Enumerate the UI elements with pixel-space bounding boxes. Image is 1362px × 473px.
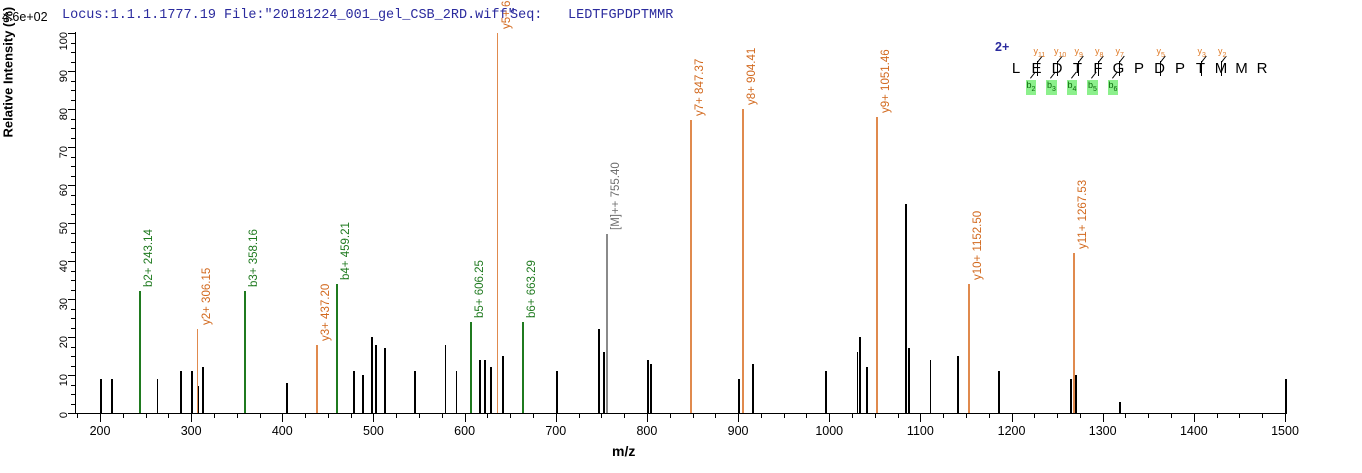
b-ion-label: b3 (1046, 80, 1057, 95)
x-axis-minor-tick (1034, 413, 1035, 418)
y-axis-tick-label: 10 (58, 374, 70, 398)
annotated-peak-y (497, 33, 499, 413)
peak-label: y5+ 635.3 (501, 0, 513, 29)
y-axis-tick-label: 30 (58, 298, 70, 322)
annotated-peak-y (316, 345, 318, 413)
x-axis-minor-tick (123, 413, 124, 418)
x-axis-tick (738, 413, 739, 422)
x-axis-minor-tick (806, 413, 807, 418)
spectrum-viewer: 4.6e+02 Locus:1.1.1.1777.19 File:"201812… (0, 0, 1362, 473)
spectrum-peak (1285, 379, 1287, 413)
x-axis-minor-tick (168, 413, 169, 418)
x-axis-tick (829, 413, 830, 422)
annotated-peak-b (244, 291, 246, 413)
spectrum-peak (866, 367, 868, 413)
peak-label: y11+ 1267.53 (1077, 180, 1089, 249)
y-axis-title: Relative Intensity (%) (1, 114, 16, 138)
peak-label: b2+ 243.14 (143, 230, 155, 288)
sequence-residue: L (1007, 60, 1025, 77)
x-axis-minor-tick (624, 413, 625, 418)
y-ion-label: y11 (1034, 46, 1046, 59)
spectrum-peak (484, 360, 486, 413)
x-axis-minor-tick (875, 413, 876, 418)
x-axis-tick (373, 413, 374, 422)
spectrum-peak (490, 367, 492, 413)
x-axis-minor-tick (533, 413, 534, 418)
annotated-peak-b (336, 284, 338, 413)
x-axis-minor-tick (305, 413, 306, 418)
annotated-peak-y (690, 120, 692, 413)
locus-file-label: Locus:1.1.1.1777.19 File:"20181224_001_g… (62, 8, 516, 23)
peak-label: b3+ 358.16 (248, 230, 260, 288)
x-axis-minor-tick (510, 413, 511, 418)
annotated-peak-y (1073, 253, 1075, 413)
spectrum-peak (859, 337, 861, 413)
spectrum-peak (202, 367, 204, 413)
peak-label: y8+ 904.41 (746, 48, 758, 105)
x-axis-line (75, 413, 1287, 414)
y-axis-tick-label: 90 (58, 70, 70, 94)
y-ion-cleavage-mark (1201, 61, 1202, 76)
x-axis-tick (556, 413, 557, 422)
peak-label: b6+ 663.29 (526, 260, 538, 318)
spectrum-peak (375, 345, 377, 413)
y-ion-cleavage-mark (1098, 61, 1099, 76)
x-axis-minor-tick (601, 413, 602, 418)
annotated-peak-precursor (606, 234, 608, 413)
x-axis-tick (1012, 413, 1013, 422)
spectrum-peak (191, 371, 193, 413)
x-axis-tick-label: 400 (252, 424, 312, 438)
spectrum-peak (445, 345, 447, 413)
spectrum-peak (857, 352, 859, 413)
y-ion-label: y7 (1116, 46, 1124, 59)
precursor-charge-label: 2+ (995, 40, 1009, 54)
x-axis-minor-tick (351, 413, 352, 418)
spectrum-peak (825, 371, 827, 413)
y-ion-label: y9 (1075, 46, 1083, 59)
spectrum-peak (286, 383, 288, 413)
y-ion-cleavage-mark (1037, 61, 1038, 76)
sequence-label: Seq: (510, 8, 542, 23)
x-axis-minor-tick (966, 413, 967, 418)
x-axis-tick-label: 1300 (1073, 424, 1133, 438)
x-axis-minor-tick (943, 413, 944, 418)
x-axis-tick-label: 800 (617, 424, 677, 438)
spectrum-peak (998, 371, 1000, 413)
fragment-coverage-map: 2+ LEDTFGPDPTMMRy11y10y9y8y7y5y3y2b2b3b4… (995, 40, 1280, 102)
x-axis-tick-label: 200 (70, 424, 130, 438)
x-axis-minor-tick (715, 413, 716, 418)
x-axis-tick-label: 1500 (1255, 424, 1315, 438)
x-axis-minor-tick (396, 413, 397, 418)
spectrum-peak (752, 364, 754, 413)
x-axis-tick-label: 1400 (1164, 424, 1224, 438)
y-ion-label: y2 (1218, 46, 1226, 59)
x-axis-minor-tick (1080, 413, 1081, 418)
spectrum-peak (598, 329, 600, 413)
spectrum-peak (556, 371, 558, 413)
y-axis-tick-label: 60 (58, 184, 70, 208)
spectrum-peak (502, 356, 504, 413)
sequence-residue: P (1130, 60, 1148, 77)
x-axis-minor-tick (1148, 413, 1149, 418)
spectrum-peak (353, 371, 355, 413)
peak-label: y7+ 847.37 (694, 59, 706, 116)
y-ion-label: y3 (1198, 46, 1206, 59)
sequence-residue: M (1233, 60, 1251, 77)
y-ion-label: y10 (1054, 46, 1066, 59)
x-axis-minor-tick (1057, 413, 1058, 418)
x-axis-tick-label: 1200 (982, 424, 1042, 438)
x-axis-tick-label: 900 (708, 424, 768, 438)
annotated-peak-y (742, 109, 744, 413)
b-ion-label: b6 (1108, 80, 1119, 95)
y-axis-tick-label: 100 (58, 32, 70, 56)
peak-label: y10+ 1152.50 (972, 211, 984, 280)
x-axis-minor-tick (260, 413, 261, 418)
y-ion-cleavage-mark (1057, 61, 1058, 76)
annotated-peak-y (968, 284, 970, 413)
x-axis-minor-tick (328, 413, 329, 418)
x-axis-tick (1285, 413, 1286, 422)
x-axis-minor-tick (442, 413, 443, 418)
b-ion-label: b4 (1067, 80, 1078, 95)
x-axis-minor-tick (579, 413, 580, 418)
spectrum-peak (647, 360, 649, 413)
peak-label: y9+ 1051.46 (880, 49, 892, 113)
spectrum-peak (957, 356, 959, 413)
x-axis-minor-tick (1217, 413, 1218, 418)
b-ion-label: b2 (1026, 80, 1037, 95)
x-axis-title: m/z (612, 443, 635, 459)
peptide-sequence-text: LEDTFGPDPTMMR (568, 8, 673, 23)
spectrum-peak (384, 348, 386, 413)
spectrum-peak (371, 337, 373, 413)
spectrum-peak (414, 371, 416, 413)
x-axis-minor-tick (1239, 413, 1240, 418)
spectrum-peak (479, 360, 481, 413)
x-axis-tick (282, 413, 283, 422)
spectrum-peak (1119, 402, 1121, 413)
peak-label: y2+ 306.15 (201, 268, 213, 325)
x-axis-minor-tick (487, 413, 488, 418)
spectrum-peak (456, 371, 458, 413)
x-axis-minor-tick (214, 413, 215, 418)
annotated-peak-y (876, 117, 878, 413)
x-axis-tick-label: 300 (161, 424, 221, 438)
peak-label: b4+ 459.21 (340, 222, 352, 280)
y-axis-tick-label: 80 (58, 108, 70, 132)
spectrum-peak (650, 364, 652, 413)
spectrum-peak (100, 379, 102, 413)
b-ion-label: b5 (1087, 80, 1098, 95)
peak-label: y3+ 437.20 (320, 283, 332, 340)
y-ion-label: y5 (1157, 46, 1165, 59)
x-axis-tick (647, 413, 648, 422)
spectrum-peak (603, 352, 605, 413)
y-ion-cleavage-mark (1119, 61, 1120, 76)
spectrum-peak (930, 360, 932, 413)
x-axis-tick-label: 1100 (890, 424, 950, 438)
x-axis-minor-tick (989, 413, 990, 418)
spectrum-peak (362, 375, 364, 413)
spectrum-peak (908, 348, 910, 413)
sequence-residue: P (1171, 60, 1189, 77)
x-axis-tick-label: 700 (526, 424, 586, 438)
peak-label: b5+ 606.25 (474, 260, 486, 318)
x-axis-minor-tick (784, 413, 785, 418)
x-axis-tick-label: 600 (435, 424, 495, 438)
x-axis-minor-tick (237, 413, 238, 418)
annotated-peak-b (470, 322, 472, 413)
y-ion-cleavage-mark (1160, 61, 1161, 76)
x-axis-tick-label: 1000 (799, 424, 859, 438)
y-ion-cleavage-mark (1078, 61, 1079, 76)
x-axis-tick (465, 413, 466, 422)
annotated-peak-b (522, 322, 524, 413)
y-axis-tick-label: 0 (58, 412, 70, 436)
x-axis-minor-tick (146, 413, 147, 418)
annotated-peak-b (139, 291, 141, 413)
x-axis-tick (191, 413, 192, 422)
y-ion-label: y8 (1095, 46, 1103, 59)
x-axis-minor-tick (693, 413, 694, 418)
y-axis-tick-label: 50 (58, 222, 70, 246)
x-axis-minor-tick (1262, 413, 1263, 418)
x-axis-minor-tick (852, 413, 853, 418)
spectrum-peak (180, 371, 182, 413)
x-axis-tick (1103, 413, 1104, 422)
y-axis-tick-label: 70 (58, 146, 70, 170)
spectrum-peak (111, 379, 113, 413)
x-axis-minor-tick (1125, 413, 1126, 418)
x-axis-minor-tick (419, 413, 420, 418)
x-axis-minor-tick (670, 413, 671, 418)
spectrum-peak (1075, 375, 1077, 413)
x-axis-minor-tick (77, 413, 78, 418)
spectrum-peak (905, 204, 907, 413)
x-axis-minor-tick (761, 413, 762, 418)
spectrum-peak (1070, 379, 1072, 413)
peak-label: [M]++ 755.40 (610, 163, 622, 231)
x-axis-minor-tick (898, 413, 899, 418)
x-axis-tick (1194, 413, 1195, 422)
spectrum-peak (157, 379, 159, 413)
y-ion-cleavage-mark (1221, 61, 1222, 76)
y-axis-tick-label: 40 (58, 260, 70, 284)
sequence-residue: R (1253, 60, 1271, 77)
annotated-peak-y (197, 329, 199, 413)
x-axis-tick (920, 413, 921, 422)
x-axis-tick-label: 500 (343, 424, 403, 438)
x-axis-minor-tick (1171, 413, 1172, 418)
y-axis-tick-label: 20 (58, 336, 70, 360)
x-axis-tick (100, 413, 101, 422)
spectrum-peak (738, 379, 740, 413)
